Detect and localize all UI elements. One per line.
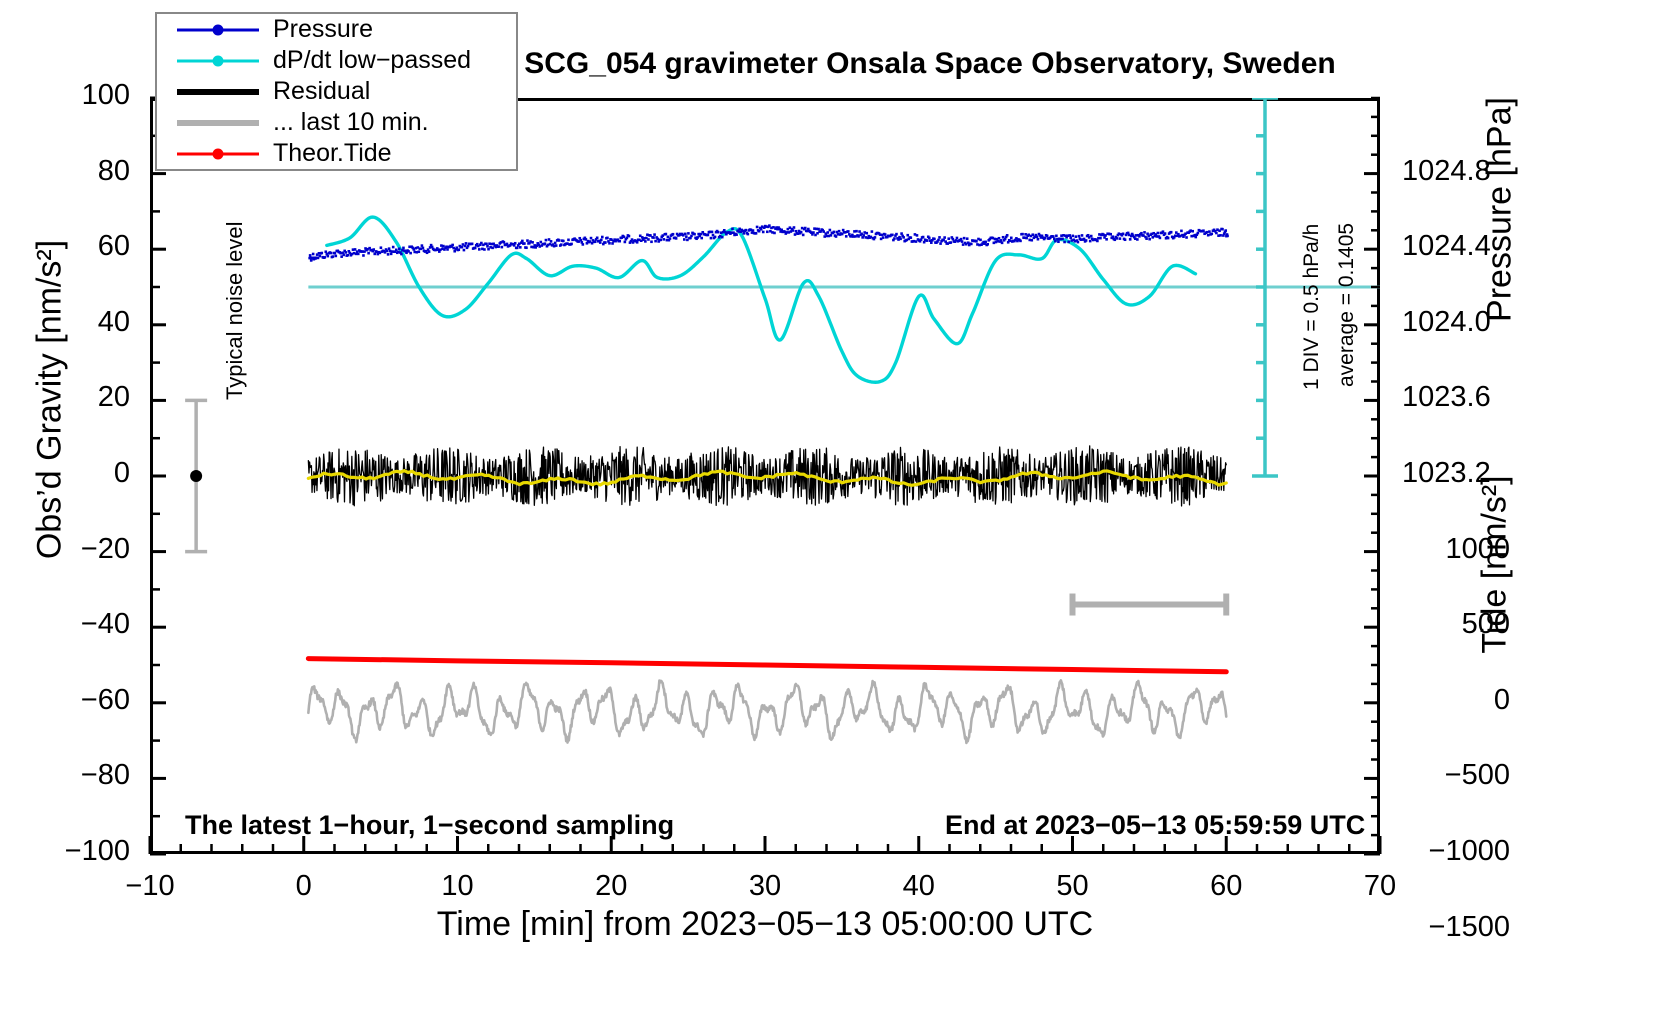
typical-noise-level-label: Typical noise level (222, 221, 248, 400)
plot-canvas (150, 98, 1380, 854)
x-tick-label: 0 (244, 870, 364, 903)
typical-noise-level-errorbar (185, 400, 207, 551)
legend-item-residual[interactable]: Residual (157, 76, 516, 107)
legend-item-theortide[interactable]: Theor.Tide (157, 138, 516, 169)
plot-area (150, 98, 1380, 854)
x-tick-label: 70 (1320, 870, 1440, 903)
footer-left-note: The latest 1−hour, 1−second sampling (185, 810, 674, 841)
page-title: SCG_054 gravimeter Onsala Space Observat… (430, 47, 1430, 81)
x-tick-label: 20 (551, 870, 671, 903)
legend-key-dpdt (177, 45, 259, 76)
x-tick-label: 60 (1166, 870, 1286, 903)
legend-item-last10[interactable]: ... last 10 min. (157, 107, 516, 138)
last-10-min-span-bar (1073, 594, 1227, 616)
pressure-scale-average-label: average = 0.1405 (1335, 223, 1359, 387)
legend-key-pressure (177, 14, 259, 45)
x-tick-label: 40 (859, 870, 979, 903)
right-tick-label-pressure: 1024.4 (1402, 230, 1491, 263)
legend-key-theortide (177, 138, 259, 169)
right-tick-label-pressure: 1024.0 (1402, 306, 1491, 339)
x-tick-label: 50 (1013, 870, 1133, 903)
legend-label-dpdt: dP/dt low−passed (273, 46, 471, 75)
legend-label-theortide: Theor.Tide (273, 139, 392, 168)
legend-label-residual: Residual (273, 77, 370, 106)
x-axis-title: Time [min] from 2023−05−13 05:00:00 UTC (150, 905, 1380, 944)
right-tick-label-tide: −1500 (1390, 911, 1510, 944)
x-tick-label: 10 (398, 870, 518, 903)
legend-label-last10: ... last 10 min. (273, 108, 429, 137)
right-tick-label-tide: −1000 (1390, 835, 1510, 868)
legend-label-pressure: Pressure (273, 15, 373, 44)
chart-legend: Pressure dP/dt low−passed Residual ... l… (155, 12, 518, 171)
y-axis-title: Obs’d Gravity [nm/s²] (31, 50, 70, 750)
footer-right-note: End at 2023−05−13 05:59:59 UTC (945, 810, 1365, 841)
legend-item-dpdt[interactable]: dP/dt low−passed (157, 45, 516, 76)
y-tick-label: −80 (0, 759, 130, 792)
legend-item-pressure[interactable]: Pressure (157, 14, 516, 45)
legend-key-residual (177, 76, 259, 107)
series-last-10-min (308, 680, 1226, 743)
x-tick-label: 30 (705, 870, 825, 903)
x-tick-label: −10 (90, 870, 210, 903)
right-axis-title-tide: Tide [nm/s²] (1476, 350, 1515, 780)
legend-key-last10 (177, 107, 259, 138)
right-tick-label-pressure: 1024.8 (1402, 155, 1491, 188)
series-theoretical-tide (308, 659, 1226, 672)
series-pressure (308, 224, 1228, 261)
pressure-scale-div-label: 1 DIV = 0.5 hPa/h (1300, 224, 1324, 390)
y-tick-label: −100 (0, 835, 130, 868)
